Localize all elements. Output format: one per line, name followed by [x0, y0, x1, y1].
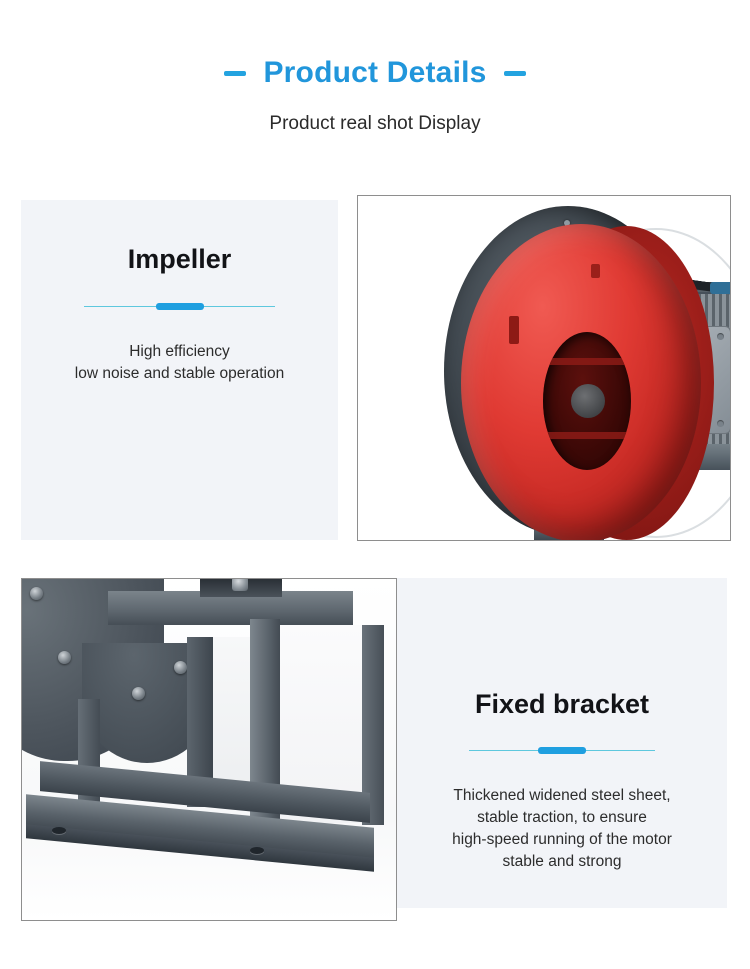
fixed-bracket-description-line: Thickened widened steel sheet, [407, 785, 717, 807]
fixed-bracket-text-panel: Fixed bracket Thickened widened steel sh… [397, 578, 727, 908]
impeller-photo-scene [358, 196, 730, 540]
bracket-photo-scene [22, 579, 396, 920]
casing-bolt [30, 587, 43, 600]
casing-bolt [174, 661, 187, 674]
impeller-text-panel: Impeller High efficiency low noise and s… [21, 200, 338, 540]
divider-nub [538, 747, 586, 754]
fan-housing-disc [444, 206, 692, 536]
page-title-row: Product Details [0, 58, 750, 88]
casing-bolt [132, 687, 145, 700]
impeller-vane [543, 358, 631, 365]
fixed-bracket-description-line: stable traction, to ensure [407, 807, 717, 829]
casing-bolt [58, 651, 71, 664]
impeller-vane [543, 432, 631, 439]
fixed-bracket-photo [21, 578, 397, 921]
anchor-hole [52, 827, 66, 834]
fixed-bracket-description-line: stable and strong [407, 851, 717, 873]
fixed-bracket-description: Thickened widened steel sheet, stable tr… [397, 785, 727, 873]
impeller-tab [509, 316, 519, 344]
impeller-heading: Impeller [21, 245, 338, 275]
impeller-divider [84, 303, 275, 311]
fixed-bracket-heading: Fixed bracket [397, 690, 727, 720]
page-subtitle: Product real shot Display [0, 113, 750, 136]
impeller-description: High efficiency low noise and stable ope… [21, 341, 338, 385]
title-dash-left-icon [224, 71, 246, 76]
title-dash-right-icon [504, 71, 526, 76]
impeller-description-line: low noise and stable operation [35, 363, 324, 385]
fixed-bracket-description-line: high-speed running of the motor [407, 829, 717, 851]
impeller-photo [357, 195, 731, 541]
divider-nub [156, 303, 204, 310]
mount-bolt [232, 578, 248, 591]
impeller-description-line: High efficiency [35, 341, 324, 363]
impeller-inlet-eye [543, 332, 631, 470]
impeller-hub [571, 384, 605, 418]
anchor-hole [250, 847, 264, 854]
impeller-red-cone [461, 224, 701, 541]
fixed-bracket-divider [469, 747, 655, 755]
page-title: Product Details [263, 58, 486, 88]
impeller-lug [591, 264, 600, 278]
